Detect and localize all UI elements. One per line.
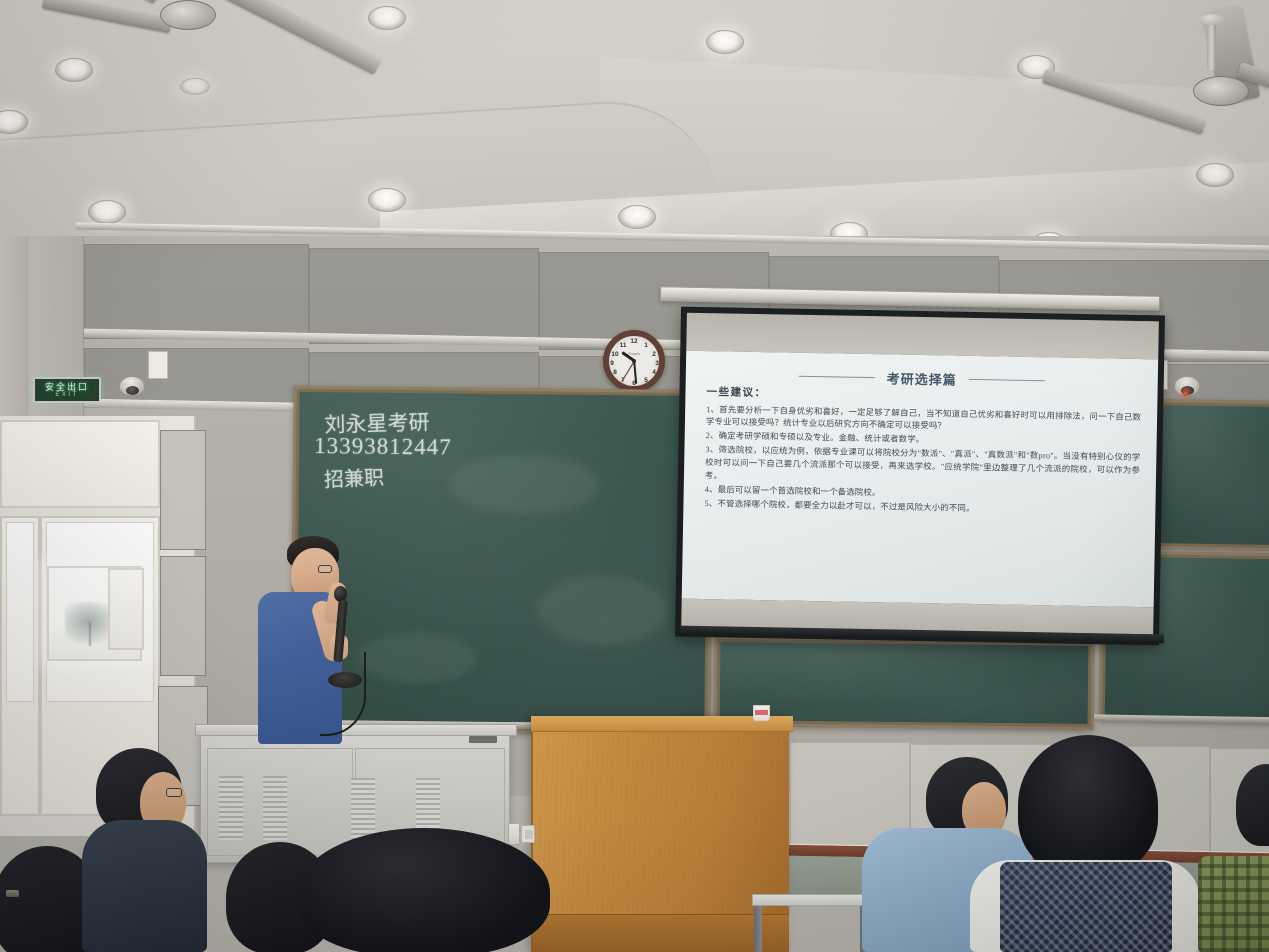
- clock-numeral: 8: [610, 369, 620, 376]
- side-desk: [752, 894, 872, 952]
- clock-numeral: 4: [649, 369, 659, 376]
- exit-sign-cn: 安全出口: [45, 382, 89, 392]
- downlight: [368, 188, 406, 212]
- fan-hub: [1193, 76, 1249, 106]
- fan-blade: [210, 0, 382, 75]
- clock-numeral: 10: [610, 351, 620, 358]
- chalk-smudge: [448, 453, 599, 515]
- fan-hub: [160, 0, 216, 30]
- wall-socket[interactable]: [521, 825, 535, 843]
- classroom-photo: 安全出口 EXIT Polaris 12 1 2 3 4 5 6 7 8 9 1…: [0, 0, 1269, 952]
- wall-clock: Polaris 12 1 2 3 4 5 6 7 8 9 10 11: [603, 330, 665, 392]
- audience-hair: [1018, 735, 1158, 875]
- ceiling: [0, 0, 1269, 258]
- projector-screen: 考研选择篇 一些建议： 1、首先要分析一下自身优劣和喜好，一定足够了解自己，当不…: [675, 307, 1165, 646]
- presenter-glasses: [318, 565, 332, 573]
- podium-base: [533, 914, 789, 952]
- slide-title-rule-right: [969, 379, 1045, 381]
- blackboard-surface: [1151, 405, 1269, 545]
- console-vent: [263, 776, 287, 840]
- console-vent: [219, 776, 243, 840]
- hair-clip: [6, 890, 19, 897]
- desk-leg: [754, 906, 762, 952]
- downlight: [0, 110, 28, 134]
- blackboard-right-upper: [1145, 399, 1269, 551]
- wall-panel: [309, 248, 539, 344]
- desk-top: [752, 894, 872, 906]
- left-cabinet-upper: [160, 430, 206, 550]
- fan-ceiling-mount: [1199, 14, 1225, 25]
- chalk-smudge: [537, 574, 668, 645]
- downlight: [618, 205, 656, 229]
- slide-item: 3、筛选院校，以应统为例，依据专业课可以将院校分为"数派"、"真派"、"真数派"…: [705, 444, 1141, 490]
- wall-notice-left: [148, 351, 168, 379]
- wall-panel: [84, 244, 309, 339]
- console-badge: [469, 736, 497, 743]
- downlight: [706, 30, 744, 54]
- bandana-shawl: [1000, 862, 1172, 952]
- downlight: [55, 58, 93, 82]
- slide-title: 考研选择篇: [887, 368, 957, 388]
- door-pane: [6, 522, 34, 702]
- downlight: [368, 6, 406, 30]
- window-sash[interactable]: [108, 568, 144, 650]
- console-vent: [351, 778, 375, 842]
- fan-rod: [1207, 22, 1216, 70]
- exit-sign: 安全出口 EXIT: [33, 377, 101, 403]
- paper-cup[interactable]: [753, 705, 770, 721]
- podium: [531, 716, 789, 952]
- door-leaf-left[interactable]: [0, 516, 40, 816]
- left-cabinet-lower: [160, 556, 206, 676]
- wall-switch-box[interactable]: [508, 823, 520, 845]
- fan-blade: [42, 0, 172, 33]
- blackboard-line-2: 13393812447: [314, 433, 452, 460]
- clock-numeral: 9: [607, 360, 617, 367]
- clock-numeral: 5: [641, 377, 651, 384]
- blackboard-line-3: 招兼职: [323, 461, 384, 492]
- blackboard-surface: [720, 642, 1089, 724]
- audience-glasses: [166, 788, 182, 797]
- downlight: [88, 200, 126, 224]
- clock-numeral: 11: [618, 342, 628, 349]
- downlight: [1196, 163, 1234, 187]
- slide-body: 一些建议： 1、首先要分析一下自身优劣和喜好，一定足够了解自己，当不知道自己优劣…: [704, 387, 1141, 520]
- exit-sign-en: EXIT: [55, 392, 78, 399]
- slide-title-rule-left: [799, 376, 875, 378]
- camera-led: [1183, 391, 1188, 396]
- clock-center-pin: [632, 359, 636, 363]
- downlight: [180, 78, 210, 95]
- clock-numeral: 12: [629, 338, 639, 345]
- clock-numeral: 3: [652, 360, 662, 367]
- clock-numeral: 2: [649, 351, 659, 358]
- chalk-smudge: [357, 632, 478, 683]
- clock-numeral: 1: [641, 342, 651, 349]
- security-camera-left: [119, 376, 145, 396]
- door-transom: [0, 420, 160, 508]
- slide-surface: 考研选择篇 一些建议： 1、首先要分析一下自身优劣和喜好，一定足够了解自己，当不…: [682, 351, 1158, 608]
- plaid-shirt: [1198, 856, 1269, 952]
- audience-hair: [298, 828, 550, 952]
- console-top: [195, 724, 517, 736]
- audience-torso: [82, 820, 207, 952]
